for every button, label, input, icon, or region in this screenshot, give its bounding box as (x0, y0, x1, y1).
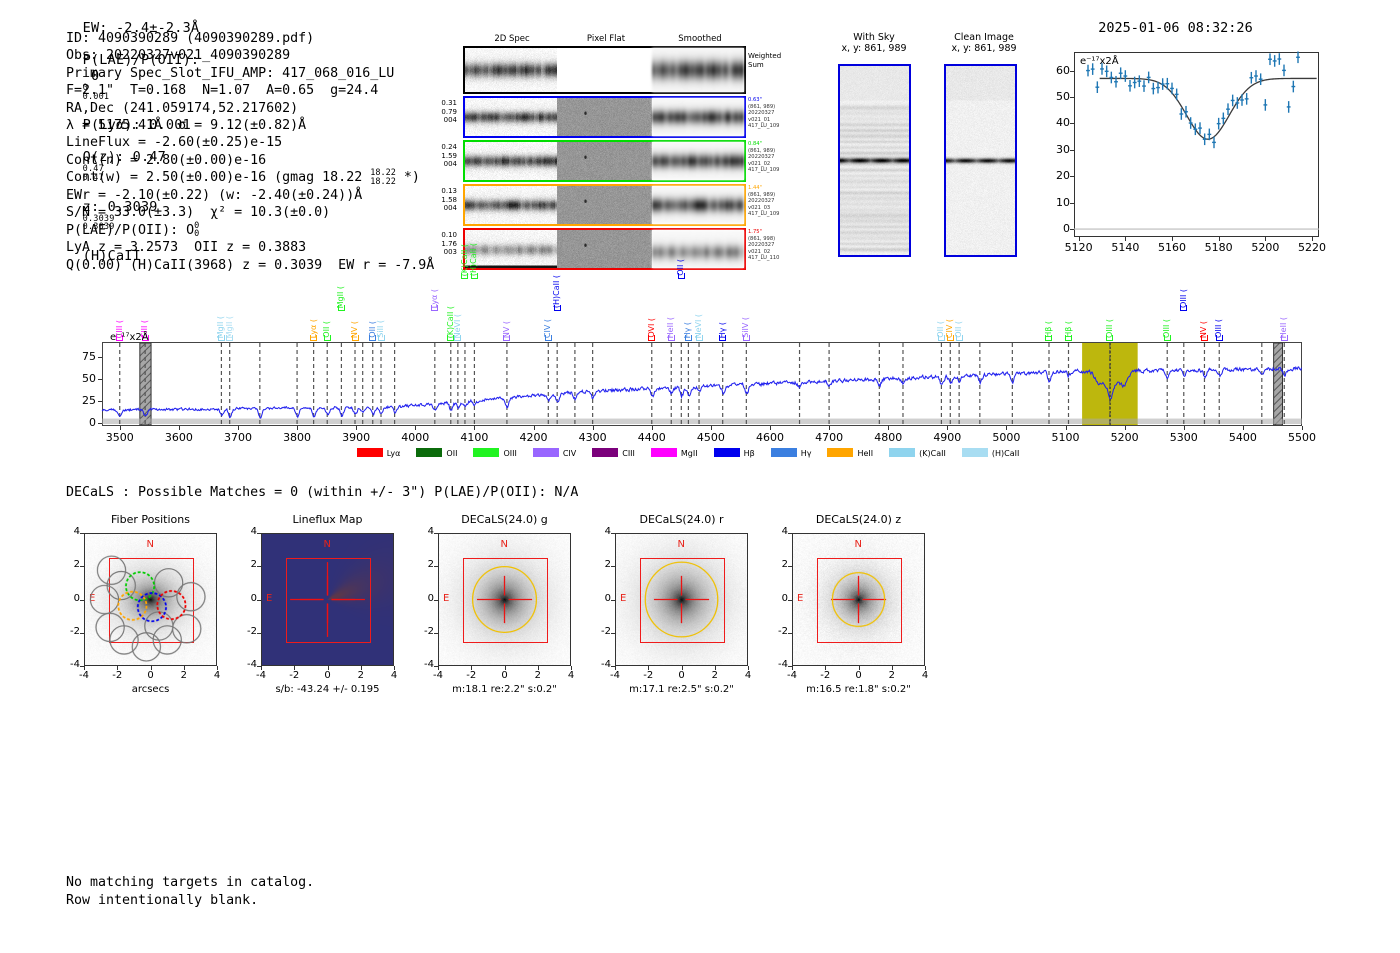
decals-ytick: 4 (766, 526, 788, 537)
pixelflat-cell (557, 142, 652, 180)
spectrum-units: e⁻¹⁷x2Å (110, 332, 149, 343)
decals-xtick: -4 (428, 670, 448, 681)
info-seeing: F=2.1" T=0.168 N=1.07 A=0.65 g=24.4 (66, 82, 434, 99)
spec2d-row-right-labels: 0.84"(861, 989)20220327v021_02417_LU_109 (748, 141, 788, 174)
decals-xtick: -2 (638, 670, 658, 681)
with-sky-image (838, 64, 911, 257)
spec2d-cell (465, 230, 557, 268)
smoothed-cell (652, 98, 744, 136)
decals-panel-image (84, 533, 217, 666)
decals-xtick: 2 (705, 670, 725, 681)
pixelflat-cell (557, 98, 652, 136)
spec2d-row-left-labels: 0.241.59004 (421, 143, 457, 169)
decals-xtick: 2 (528, 670, 548, 681)
decals-ytick: -4 (412, 659, 434, 670)
decals-ytick: 2 (589, 559, 611, 570)
decals-panel-image (438, 533, 571, 666)
decals-xtick: 4 (738, 670, 758, 681)
full-spectrum-chart: e⁻¹⁷x2Å 0255075 350036003700380039004000… (62, 270, 1310, 470)
decals-xtick: -2 (107, 670, 127, 681)
decals-ytick: 2 (412, 559, 434, 570)
decals-ytick: -4 (58, 659, 80, 670)
decals-ytick: 4 (412, 526, 434, 537)
catalog-note-line1: No matching targets in catalog. (66, 874, 314, 892)
decals-panel: DECaLS(24.0) r-4-4-2-2002244m:17.1 re:2.… (615, 533, 748, 666)
catalog-note: No matching targets in catalog. Row inte… (66, 874, 314, 910)
decals-ytick: -4 (235, 659, 257, 670)
decals-ytick: 0 (766, 593, 788, 604)
smoothed-cell (652, 142, 744, 180)
decals-ytick: 4 (589, 526, 611, 537)
info-id: ID: 4090390289 (4090390289.pdf) (66, 30, 434, 47)
decals-ytick: -4 (589, 659, 611, 670)
line-profile-plot: e⁻¹⁷x2Å 0102030405060 512051405160518052… (1032, 30, 1322, 260)
clean-image-title: Clean Imagex, y: 861, 989 (929, 32, 1039, 54)
decals-xtick: 4 (384, 670, 404, 681)
decals-ytick: -2 (58, 626, 80, 637)
info-lambda: λ = 5175.41Å σ = 9.12(±0.82)Å (66, 117, 434, 134)
decals-xtick: -4 (74, 670, 94, 681)
col-title-2dspec: 2D Spec (467, 34, 557, 44)
spectra-2d-row (463, 96, 746, 138)
decals-panel-title: Fiber Positions (84, 513, 217, 526)
catalog-note-line2: Row intentionally blank. (66, 892, 314, 910)
decals-ytick: 0 (235, 593, 257, 604)
spec2d-row-right-labels: 1.44"(861, 989)20220327v021_03417_LU_109 (748, 185, 788, 218)
decals-ytick: -4 (766, 659, 788, 670)
decals-panel-title: DECaLS(24.0) r (615, 513, 748, 526)
spec2d-row-right-labels: 1.75"(861, 998)20220327v021_02417_LU_110 (748, 229, 788, 262)
with-sky-title: With Skyx, y: 861, 989 (824, 32, 924, 54)
decals-panel-subtitle: m:18.1 re:2.2" s:0.2" (438, 684, 571, 695)
decals-panel: Lineflux Map-4-4-2-2002244s/b: -43.24 +/… (261, 533, 394, 666)
weighted-sum-label: Weighted Sum (748, 52, 781, 69)
decals-xtick: -4 (782, 670, 802, 681)
decals-panel-image (792, 533, 925, 666)
decals-ytick: 2 (766, 559, 788, 570)
decals-ytick: 4 (58, 526, 80, 537)
decals-xtick: -2 (815, 670, 835, 681)
decals-panel-subtitle: m:17.1 re:2.5" s:0.2" (615, 684, 748, 695)
decals-xtick: 2 (882, 670, 902, 681)
decals-panel-title: Lineflux Map (261, 513, 394, 526)
decals-ytick: 0 (589, 593, 611, 604)
decals-xtick: 0 (849, 670, 869, 681)
col-title-pixelflat: Pixel Flat (561, 34, 651, 44)
decals-panel: DECaLS(24.0) z-4-4-2-2002244m:16.5 re:1.… (792, 533, 925, 666)
decals-ytick: 2 (58, 559, 80, 570)
spec2d-cell (465, 186, 557, 224)
info-cont-n: Cont(n) = 2.80(±0.00)e-16 (66, 152, 434, 169)
decals-ytick: -2 (235, 626, 257, 637)
spec2d-cell (465, 98, 557, 136)
pixelflat-cell (557, 230, 652, 268)
spec2d-row-right-labels: 0.63"(861, 989)20220327v021_01417_LU_109 (748, 97, 788, 130)
decals-ytick: 2 (235, 559, 257, 570)
smoothed-cell (652, 230, 744, 268)
decals-ytick: 4 (235, 526, 257, 537)
spectra-2d-row (463, 184, 746, 226)
decals-panel-image (261, 533, 394, 666)
decals-xtick: -4 (251, 670, 271, 681)
spectra-2d-row (463, 228, 746, 270)
decals-xtick: 2 (351, 670, 371, 681)
decals-xtick: 4 (207, 670, 227, 681)
info-primary-slot: Primary Spec_Slot_IFU_AMP: 417_068_016_L… (66, 65, 434, 82)
decals-xtick: -2 (284, 670, 304, 681)
decals-panel-subtitle: s/b: -43.24 +/- 0.195 (261, 684, 394, 695)
decals-xtick: 2 (174, 670, 194, 681)
decals-panel-image (615, 533, 748, 666)
spec2d-row-left-labels: 0.310.79004 (421, 99, 457, 125)
info-radec: RA,Dec (241.059174,52.217602) (66, 100, 434, 117)
info-plae: P(LAE)/P(OII): O00 (66, 222, 434, 240)
decals-xtick: 0 (318, 670, 338, 681)
decals-panel-title: DECaLS(24.0) z (792, 513, 925, 526)
spec2d-cell (465, 142, 557, 180)
spec2d-row-left-labels: 0.101.76003 (421, 231, 457, 257)
decals-panel-title: DECaLS(24.0) g (438, 513, 571, 526)
decals-panel-subtitle: m:16.5 re:1.8" s:0.2" (792, 684, 925, 695)
decals-ytick: -2 (589, 626, 611, 637)
pixelflat-cell (557, 186, 652, 224)
smoothed-cell (652, 186, 744, 224)
decals-ytick: -2 (412, 626, 434, 637)
info-sn-chi2: S/N = 33.0(±3.3) χ² = 10.3(±0.0) (66, 204, 434, 221)
spec2d-row-left-labels: 0.131.58004 (421, 187, 457, 213)
col-title-smoothed: Smoothed (655, 34, 745, 44)
decals-xtick: -4 (605, 670, 625, 681)
decals-header: DECaLS : Possible Matches = 0 (within +/… (66, 485, 578, 500)
clean-image (944, 64, 1017, 257)
info-ewr: EWr = -2.10(±0.22) (w: -2.40(±0.24))Å (66, 187, 434, 204)
decals-ytick: -2 (766, 626, 788, 637)
info-lineflux: LineFlux = -2.60(±0.25)e-15 (66, 134, 434, 151)
decals-xtick: -2 (461, 670, 481, 681)
decals-ytick: 0 (58, 593, 80, 604)
decals-xtick: 0 (495, 670, 515, 681)
decals-xtick: 4 (561, 670, 581, 681)
info-redshifts: LyA z = 3.2573 OII z = 0.3883 (66, 239, 434, 256)
spectra-2d-row (463, 140, 746, 182)
decals-panel-subtitle: arcsecs (84, 684, 217, 695)
source-info-block: ID: 4090390289 (4090390289.pdf) Obs: 202… (66, 30, 434, 274)
decals-ytick: 0 (412, 593, 434, 604)
decals-xtick: 0 (672, 670, 692, 681)
decals-xtick: 4 (915, 670, 935, 681)
info-obs: Obs: 20220327v021_4090390289 (66, 47, 434, 64)
info-cont-w: Cont(w) = 2.50(±0.00)e-16 (gmag 18.22 18… (66, 169, 434, 187)
decals-panel: Fiber Positions-4-4-2-2002244arcsecsNE (84, 533, 217, 666)
decals-panel: DECaLS(24.0) g-4-4-2-2002244m:18.1 re:2.… (438, 533, 571, 666)
decals-xtick: 0 (141, 670, 161, 681)
